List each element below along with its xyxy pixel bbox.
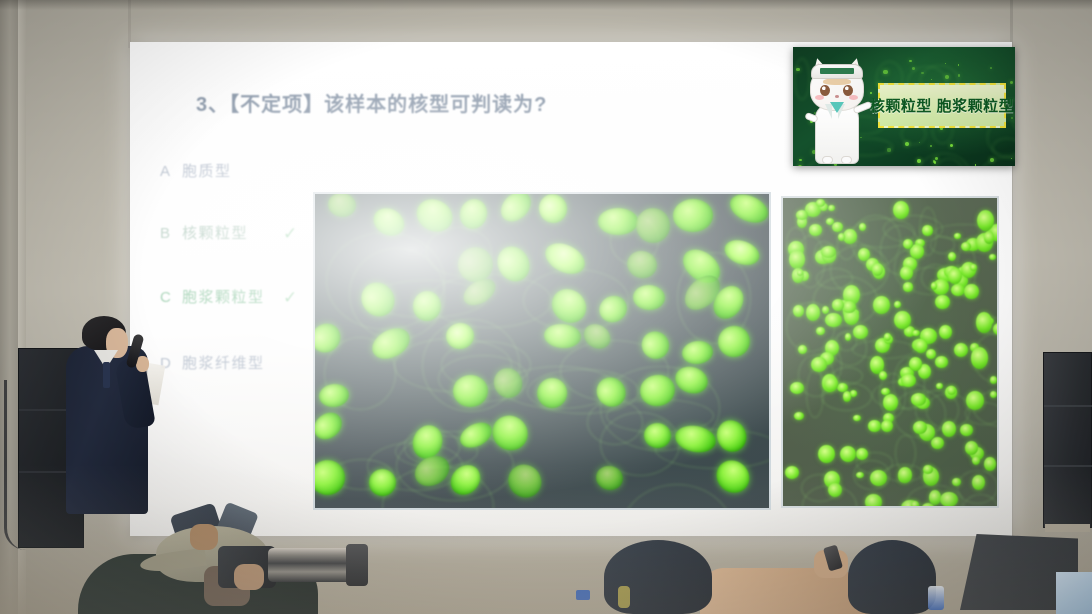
option-a-letter: A (160, 163, 182, 180)
option-c-check-icon: ✓ (283, 288, 297, 308)
overlay-caption-text: 核颗粒型 胞浆颗粒型 (870, 95, 1014, 116)
photographer-with-telephoto-lens (78, 508, 378, 614)
right-speaker-stack (1043, 352, 1092, 528)
presenter-with-microphone (60, 316, 152, 514)
option-c-letter: C (160, 289, 182, 306)
option-b-letter: B (160, 225, 182, 242)
laptop-screen (1056, 572, 1092, 614)
overlay-caption-box: 核颗粒型 胞浆颗粒型 (878, 83, 1006, 128)
telephoto-lens-icon (268, 548, 354, 582)
laptop (960, 534, 1092, 614)
option-c-label: 胞浆颗粒型 (182, 289, 265, 306)
ceiling-shadow (0, 0, 1092, 10)
micrograph-right (781, 196, 999, 508)
speaker-cable (4, 380, 26, 550)
audience-member-front-left (604, 540, 712, 614)
question-title: 3、【不定项】该样本的核型可判读为? (196, 88, 616, 117)
option-a[interactable]: A胞质型 (160, 160, 410, 181)
micrograph-left (313, 192, 771, 510)
right-speaker-base (1045, 524, 1090, 532)
option-b-label: 核颗粒型 (182, 225, 248, 242)
blue-object-left (576, 590, 590, 600)
option-d-label: 胞浆纤维型 (182, 355, 265, 372)
overlay-caption-card: 核颗粒型 胞浆颗粒型 (793, 47, 1015, 166)
blue-object-right (928, 586, 944, 610)
audience-member-front-right (848, 540, 936, 614)
option-a-label: 胞质型 (182, 163, 232, 180)
cat-doctor-mascot-icon (801, 52, 873, 164)
screenshot-stage: 3、【不定项】该样本的核型可判读为? A胞质型 B核颗粒型 ✓ C胞浆颗粒型 ✓… (0, 0, 1092, 614)
option-b-check-icon: ✓ (283, 224, 297, 244)
